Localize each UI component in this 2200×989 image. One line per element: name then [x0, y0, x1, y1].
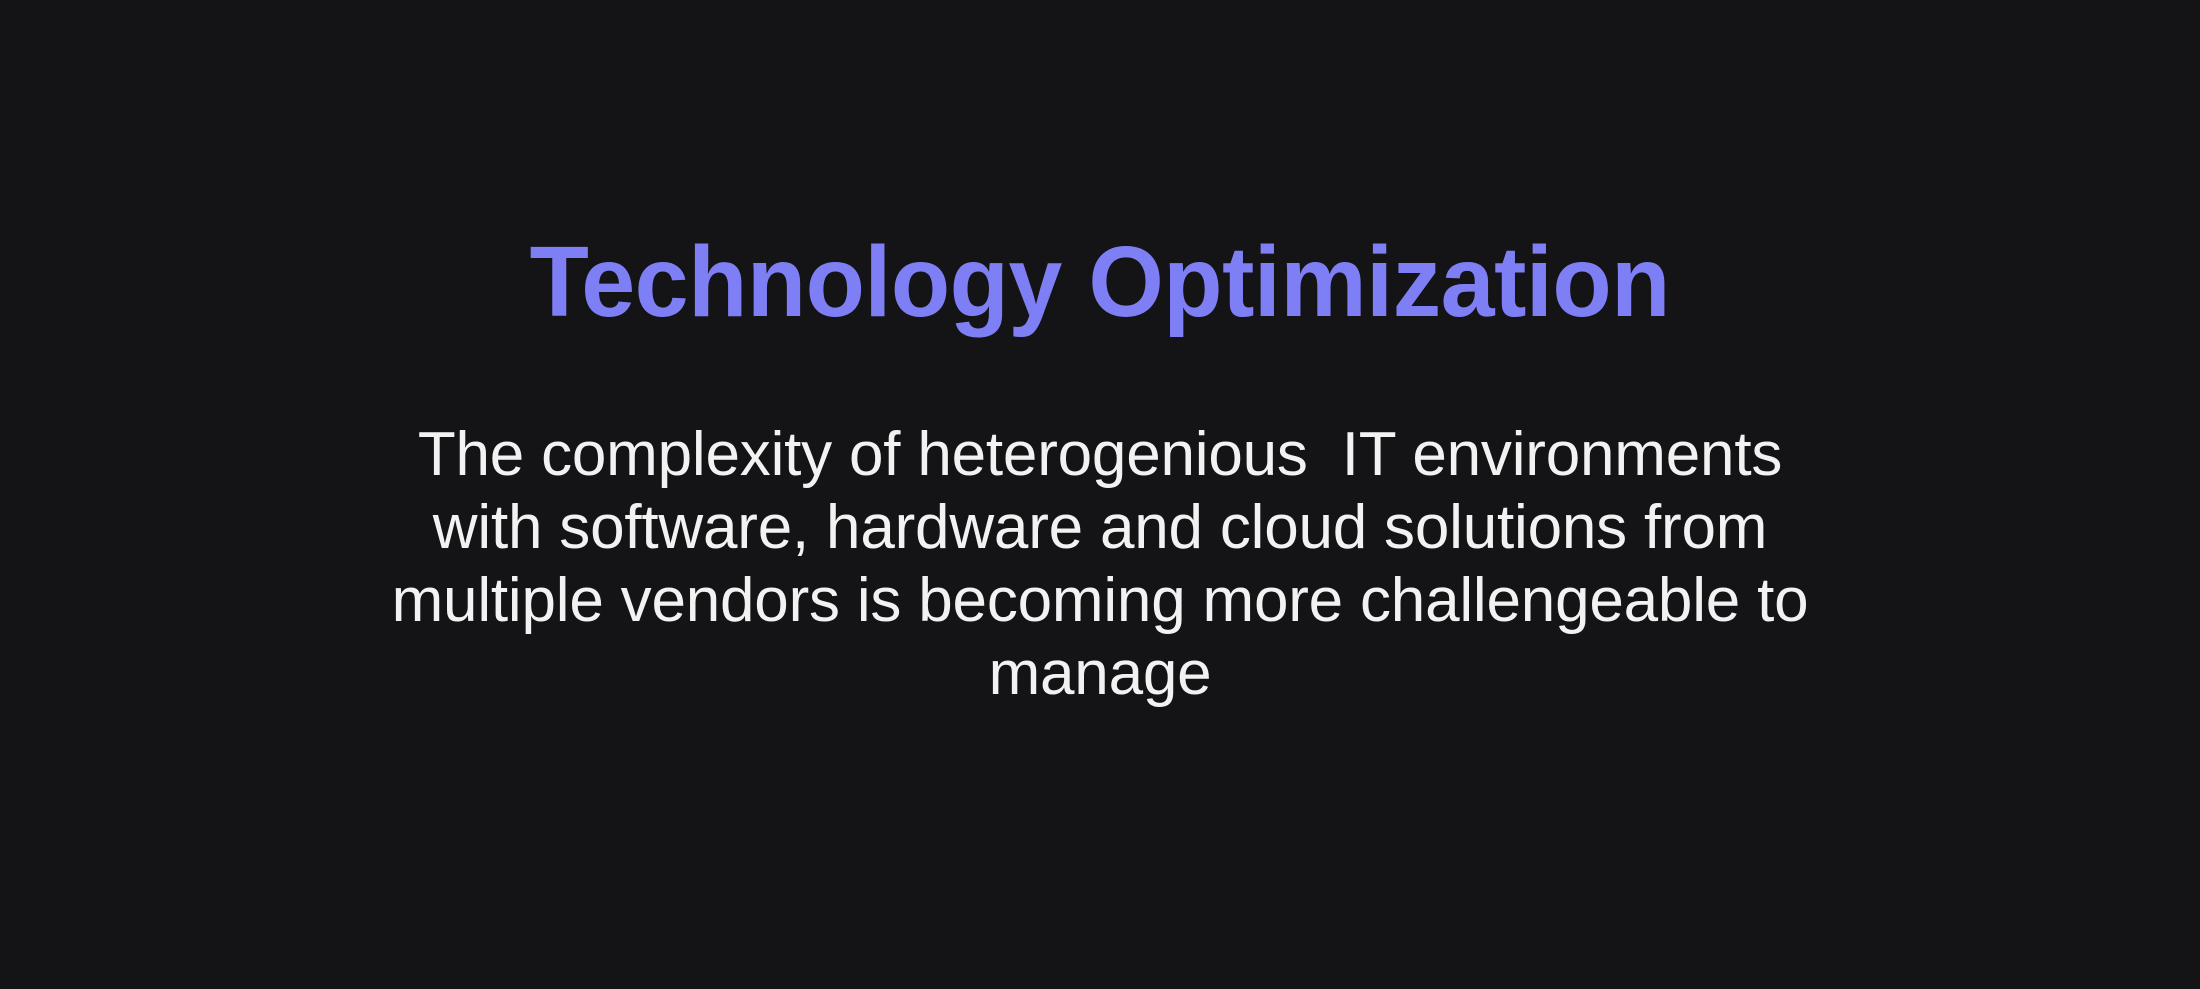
body-line: manage: [390, 637, 1810, 710]
presentation-slide: Technology Optimization The complexity o…: [0, 0, 2200, 989]
slide-content-stack: Technology Optimization The complexity o…: [0, 0, 2200, 989]
body-line: with software, hardware and cloud soluti…: [390, 491, 1810, 564]
slide-body-text: The complexity of heterogenious IT envir…: [390, 418, 1810, 710]
body-line: multiple vendors is becoming more challe…: [390, 564, 1810, 637]
body-line: The complexity of heterogenious IT envir…: [390, 418, 1810, 491]
slide-title: Technology Optimization: [530, 222, 1670, 342]
